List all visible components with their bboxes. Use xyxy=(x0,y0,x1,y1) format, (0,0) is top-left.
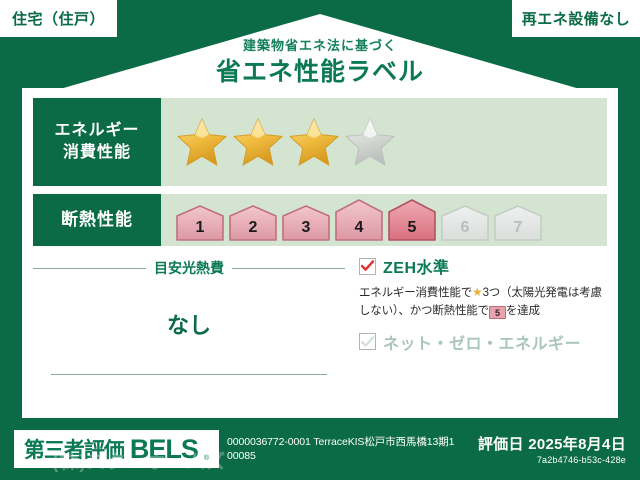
insulation-performance-body: 1234567 xyxy=(161,194,607,246)
label-title-block: 建築物省エネ法に基づく 省エネ性能ラベル xyxy=(22,38,618,88)
zeh-standard-row: ZEH水準 xyxy=(359,254,607,278)
divider-line-left xyxy=(33,268,146,269)
insulation-level-7: 7 xyxy=(493,204,543,242)
bels-logo-en-text: BELS xyxy=(130,434,198,465)
energy-performance-row: エネルギー 消費性能 xyxy=(33,98,607,186)
evaluation-hash: 7a2b4746-b53c-428e xyxy=(478,455,626,465)
energy-label-line1: エネルギー xyxy=(54,120,139,142)
utility-cost-column: 目安光熱費 なし xyxy=(33,254,345,375)
bels-logo: 第三者評価 BELS ® xyxy=(14,430,219,468)
certificate-number: 0000036772-0001 TerraceKIS松戸市西馬橋13期1 000… xyxy=(227,435,477,463)
insulation-level-1: 1 xyxy=(175,204,225,242)
zeh-description: エネルギー消費性能で★3つ（太陽光発電は考慮しない）、かつ断熱性能で5を達成 xyxy=(359,283,607,321)
insulation-level-6: 6 xyxy=(440,204,490,242)
bels-label-page: 住宅（住戸） 再エネ設備なし 建築物省エネ法に基づく 省エネ性能ラベル エネルギ… xyxy=(0,0,640,480)
utility-cost-title: 目安光熱費 xyxy=(154,258,224,278)
insulation-performance-row: 断熱性能 1234567 xyxy=(33,194,607,246)
star-rating xyxy=(175,116,397,168)
badge-building-type: 住宅（住戸） xyxy=(0,0,117,37)
footer-bar: 第三者評価 BELS ® 0000036772-0001 TerraceKIS松… xyxy=(0,418,640,480)
star-filled-icon xyxy=(287,116,341,168)
bels-logo-jp-text: 第三者評価 xyxy=(24,434,124,464)
zeh-checkbox xyxy=(359,258,376,275)
net-zero-energy-checkbox xyxy=(359,333,376,350)
lower-section: 目安光熱費 なし ZEH水準 エネルギー消費性能で★3つ（太陽光発電は考 xyxy=(33,254,607,375)
energy-label-line2: 消費性能 xyxy=(63,142,131,164)
insulation-performance-label: 断熱性能 xyxy=(33,194,161,246)
certificate-line1: 0000036772-0001 TerraceKIS松戸市西馬橋13期1 xyxy=(227,435,477,449)
label-content: エネルギー 消費性能 断熱性能 1234567 目安光熱費 なし xyxy=(33,98,607,408)
star-filled-icon xyxy=(175,116,229,168)
star-empty-icon xyxy=(343,116,397,168)
mini-star-icon: ★ xyxy=(472,285,483,299)
utility-cost-bottom-divider xyxy=(51,374,327,375)
energy-performance-label: エネルギー 消費性能 xyxy=(33,98,161,186)
insulation-level-scale: 1234567 xyxy=(175,198,543,242)
energy-performance-body xyxy=(161,98,607,186)
insulation-level-4: 4 xyxy=(334,198,384,242)
zeh-desc-pre: エネルギー消費性能で xyxy=(359,287,472,299)
zeh-desc-post: を達成 xyxy=(506,305,540,317)
utility-cost-heading: 目安光熱費 xyxy=(33,258,345,278)
utility-cost-value: なし xyxy=(33,308,345,340)
star-filled-icon xyxy=(231,116,285,168)
page-title: 省エネ性能ラベル xyxy=(22,56,618,89)
net-zero-energy-row: ネット・ゼロ・エネルギー xyxy=(359,330,607,354)
insulation-level-5: 5 xyxy=(387,198,437,242)
divider-line-right xyxy=(232,268,345,269)
net-zero-energy-label: ネット・ゼロ・エネルギー xyxy=(383,330,581,354)
insulation-level-2: 2 xyxy=(228,204,278,242)
evaluation-date: 評価日 2025年8月4日 xyxy=(478,433,626,454)
badge-renewable-energy: 再エネ設備なし xyxy=(512,0,640,37)
evaluation-date-block: 評価日 2025年8月4日 7a2b4746-b53c-428e xyxy=(478,433,626,465)
title-subtitle: 建築物省エネ法に基づく xyxy=(22,38,618,54)
inline-house-badge: 5 xyxy=(489,306,506,319)
bels-logo-trademark: ® xyxy=(204,455,209,462)
insulation-level-3: 3 xyxy=(281,204,331,242)
certificate-line2: 00085 xyxy=(227,449,477,463)
zeh-column: ZEH水準 エネルギー消費性能で★3つ（太陽光発電は考慮しない）、かつ断熱性能で… xyxy=(345,254,607,375)
zeh-standard-label: ZEH水準 xyxy=(383,254,450,278)
